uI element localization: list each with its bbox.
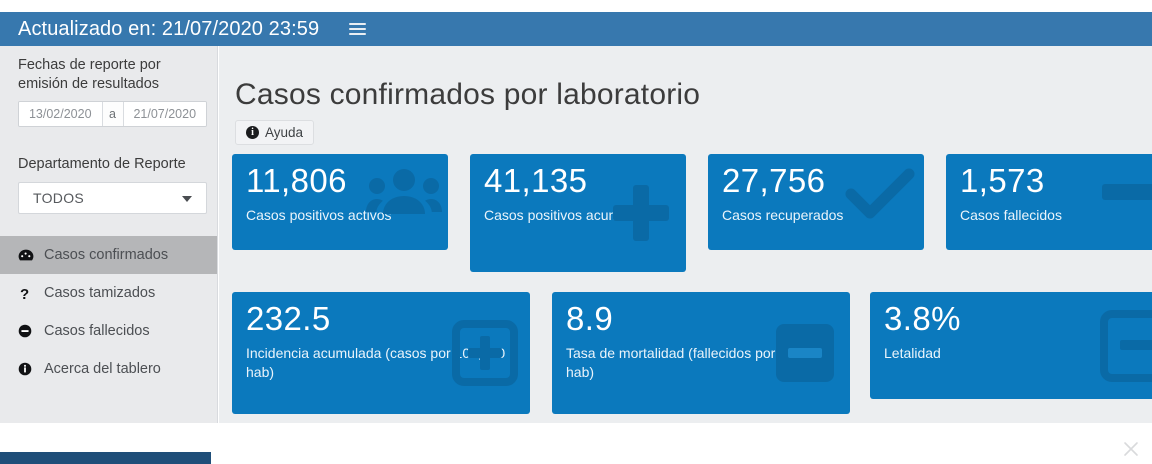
stat-card-letalidad[interactable]: 3.8% Letalidad xyxy=(870,292,1152,399)
tachometer-icon xyxy=(18,249,40,262)
svg-text:?: ? xyxy=(20,286,29,301)
sidebar-nav: Casos confirmados ? Casos tamizados xyxy=(0,236,217,388)
minus-circle-icon xyxy=(18,324,40,338)
stat-card-label: Letalidad xyxy=(884,344,1152,363)
stat-card-value: 41,135 xyxy=(484,162,587,200)
hamburger-icon[interactable] xyxy=(349,20,369,38)
bottom-status-bar xyxy=(0,452,211,464)
stat-card-incidencia-acumulada[interactable]: 232.5 Incidencia acumulada (casos por 10… xyxy=(232,292,530,414)
stat-card-casos-positivos-acumulados[interactable]: 41,135 Casos positivos acumulados xyxy=(470,154,686,272)
sidebar-item-label: Casos fallecidos xyxy=(44,323,150,339)
stat-card-value: 27,756 xyxy=(722,162,825,200)
stat-card-casos-recuperados[interactable]: 27,756 Casos recuperados xyxy=(708,154,924,250)
minus-icon xyxy=(1102,181,1152,203)
date-range-input[interactable]: 13/02/2020 a 21/07/2020 xyxy=(18,101,207,127)
dashboard-page: Actualizado en: 21/07/2020 23:59 Fechas … xyxy=(0,0,1152,464)
question-mark-icon: ? xyxy=(18,286,40,301)
help-button[interactable]: i Ayuda xyxy=(235,120,314,145)
date-filter-block: Fechas de reporte por emisión de resulta… xyxy=(0,46,217,127)
main-content: Casos confirmados por laboratorio i Ayud… xyxy=(219,46,1152,423)
sidebar: Fechas de reporte por emisión de resulta… xyxy=(0,46,218,423)
last-updated-label: Actualizado en: 21/07/2020 23:59 xyxy=(18,18,319,41)
sidebar-item-label: Acerca del tablero xyxy=(44,361,161,377)
sidebar-item-casos-confirmados[interactable]: Casos confirmados xyxy=(0,236,217,274)
info-circle-icon: i xyxy=(246,126,259,139)
top-header-bar: Actualizado en: 21/07/2020 23:59 xyxy=(0,12,1152,46)
page-title: Casos confirmados por laboratorio xyxy=(235,78,1152,112)
end-date-input[interactable]: 21/07/2020 xyxy=(124,102,207,126)
chevron-down-icon xyxy=(182,196,192,202)
sidebar-item-label: Casos tamizados xyxy=(44,285,155,301)
stat-card-casos-positivos-activos[interactable]: 11,806 Casos positivos activos xyxy=(232,154,448,250)
stat-card-value: 3.8% xyxy=(884,300,961,338)
sidebar-item-casos-tamizados[interactable]: ? Casos tamizados xyxy=(0,274,217,312)
sidebar-item-label: Casos confirmados xyxy=(44,247,168,263)
close-icon[interactable] xyxy=(1118,436,1144,462)
start-date-input[interactable]: 13/02/2020 xyxy=(19,102,102,126)
stat-card-value: 232.5 xyxy=(246,300,331,338)
help-button-label: Ayuda xyxy=(265,125,303,140)
department-select-value: TODOS xyxy=(33,190,84,206)
stat-card-label: Incidencia acumulada (casos por 100,000 … xyxy=(246,344,520,382)
stat-card-label: Casos fallecidos xyxy=(960,206,1152,225)
department-filter-block: Departamento de Reporte TODOS xyxy=(0,145,217,214)
stat-card-casos-fallecidos[interactable]: 1,573 Casos fallecidos xyxy=(946,154,1152,250)
date-range-separator: a xyxy=(102,102,124,126)
sidebar-item-casos-fallecidos[interactable]: Casos fallecidos xyxy=(0,312,217,350)
stat-card-label: Tasa de mortalidad (fallecidos por 100,0… xyxy=(566,344,840,382)
sidebar-item-acerca-del-tablero[interactable]: Acerca del tablero xyxy=(0,350,217,388)
stat-card-value: 11,806 xyxy=(246,162,347,200)
info-circle-icon xyxy=(18,362,40,376)
stat-card-label: Casos positivos acumulados xyxy=(484,206,676,225)
department-filter-label: Departamento de Reporte xyxy=(4,155,217,174)
stat-card-label: Casos recuperados xyxy=(722,206,914,225)
stat-card-value: 8.9 xyxy=(566,300,613,338)
department-select[interactable]: TODOS xyxy=(18,182,207,214)
stat-card-tasa-de-mortalidad[interactable]: 8.9 Tasa de mortalidad (fallecidos por 1… xyxy=(552,292,850,414)
stat-card-value: 1,573 xyxy=(960,162,1045,200)
date-filter-label: Fechas de reporte por emisión de resulta… xyxy=(4,56,217,94)
main-bottom-edge xyxy=(219,414,1152,423)
stat-card-label: Casos positivos activos xyxy=(246,206,438,225)
